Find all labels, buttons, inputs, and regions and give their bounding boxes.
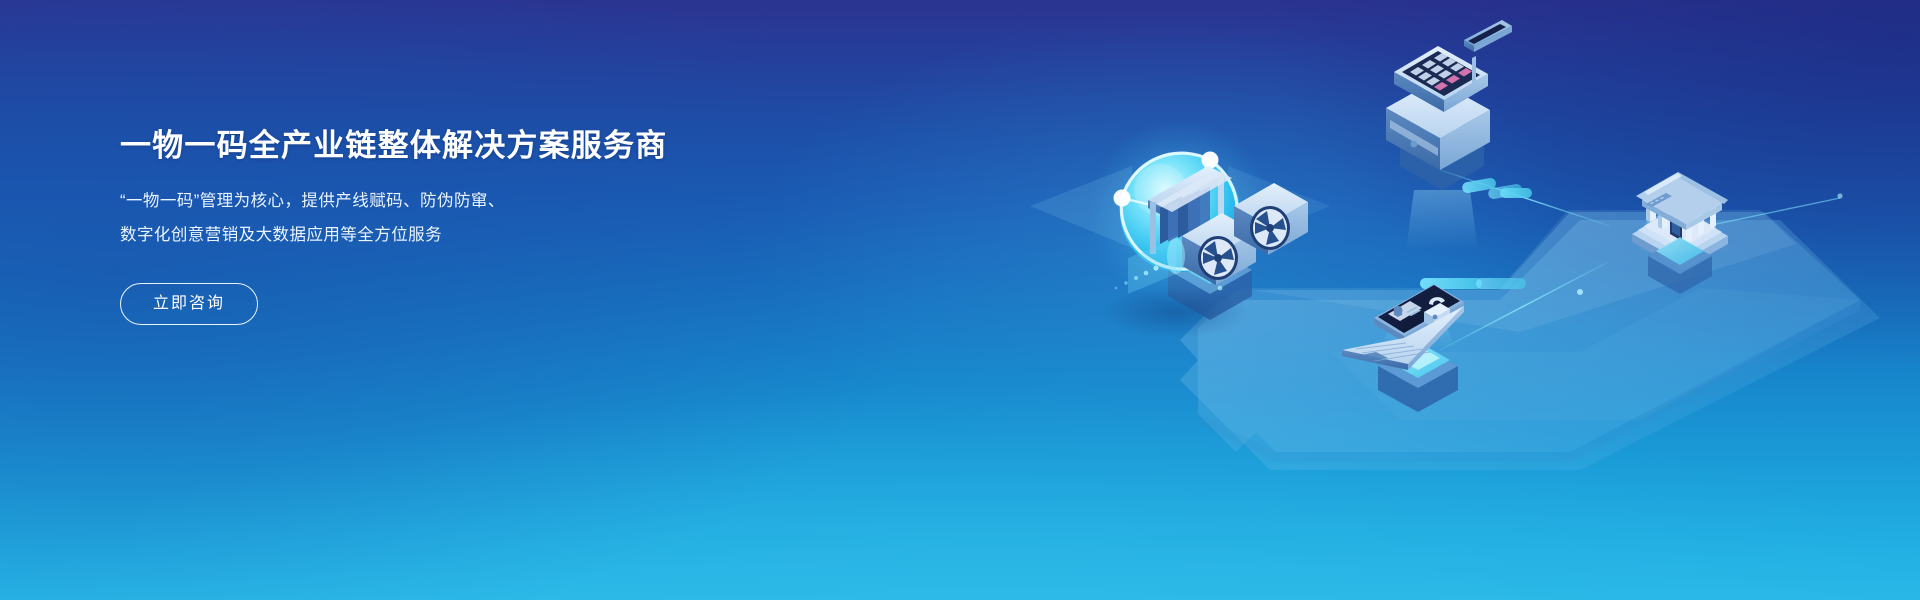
hero-banner: 一物一码全产业链整体解决方案服务商 “一物一码”管理为核心，提供产线赋码、防伪防… [0, 0, 1920, 600]
hero-subtitle: “一物一码”管理为核心，提供产线赋码、防伪防窜、 数字化创意营销及大数据应用等全… [120, 185, 800, 253]
light-beam [1406, 190, 1478, 250]
isometric-platform [1180, 210, 1880, 470]
page-title: 一物一码全产业链整体解决方案服务商 [120, 128, 800, 165]
hero-subtitle-line-1: “一物一码”管理为核心，提供产线赋码、防伪防窜、 [120, 185, 800, 219]
isometric-iot-network-illustration [880, 0, 1920, 600]
hero-subtitle-line-2: 数字化创意营销及大数据应用等全方位服务 [120, 219, 800, 253]
pos-terminal-icon [1386, 20, 1512, 170]
hero-copy: 一物一码全产业链整体解决方案服务商 “一物一码”管理为核心，提供产线赋码、防伪防… [120, 128, 800, 325]
consult-now-button[interactable]: 立即咨询 [120, 283, 258, 325]
